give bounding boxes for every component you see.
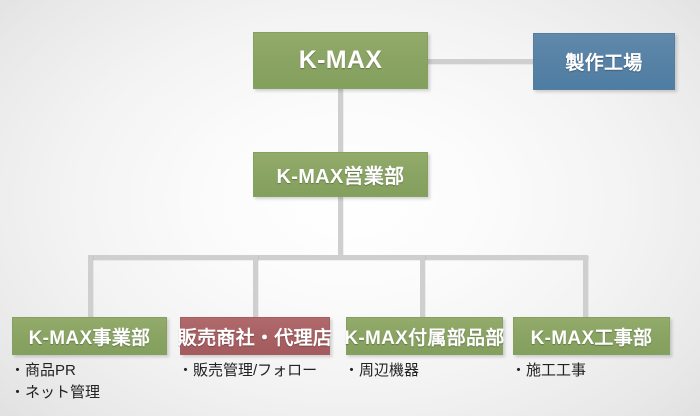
- bullet-item: ・販売管理/フォロー: [178, 360, 317, 382]
- connector-bus-bar: [88, 255, 588, 260]
- node-root-kmax[interactable]: K-MAX: [253, 32, 428, 89]
- bullet-list-leaf-0: ・商品PR ・ネット管理: [10, 360, 100, 404]
- node-production-factory[interactable]: 製作工場: [533, 33, 675, 90]
- connector-root-to-factory: [427, 59, 534, 64]
- connector-drop-leaf-2: [420, 255, 425, 317]
- bullet-item: ・商品PR: [10, 360, 100, 382]
- bullet-item: ・周辺機器: [344, 360, 419, 382]
- node-kmax-sales-division[interactable]: K-MAX営業部: [253, 152, 428, 197]
- connector-root-to-sales-division: [338, 89, 343, 152]
- bullet-list-leaf-3: ・施工工事: [511, 360, 586, 382]
- node-leaf-kmax-accessory-parts-division[interactable]: K-MAX付属部品部: [346, 317, 503, 355]
- connector-drop-leaf-1: [253, 255, 258, 317]
- node-leaf-distributor-agency[interactable]: 販売商社・代理店: [180, 317, 330, 355]
- bullet-list-leaf-2: ・周辺機器: [344, 360, 419, 382]
- connector-drop-leaf-3: [583, 255, 588, 317]
- connector-drop-leaf-0: [88, 255, 93, 317]
- node-leaf-kmax-construction-division[interactable]: K-MAX工事部: [513, 317, 670, 355]
- org-chart-canvas: K-MAX 製作工場 K-MAX営業部 K-MAX事業部 販売商社・代理店 K-…: [0, 0, 700, 416]
- bullet-list-leaf-1: ・販売管理/フォロー: [178, 360, 317, 382]
- connector-sales-division-down: [338, 197, 343, 257]
- node-leaf-kmax-business-division[interactable]: K-MAX事業部: [12, 317, 167, 355]
- bullet-item: ・ネット管理: [10, 382, 100, 404]
- bullet-item: ・施工工事: [511, 360, 586, 382]
